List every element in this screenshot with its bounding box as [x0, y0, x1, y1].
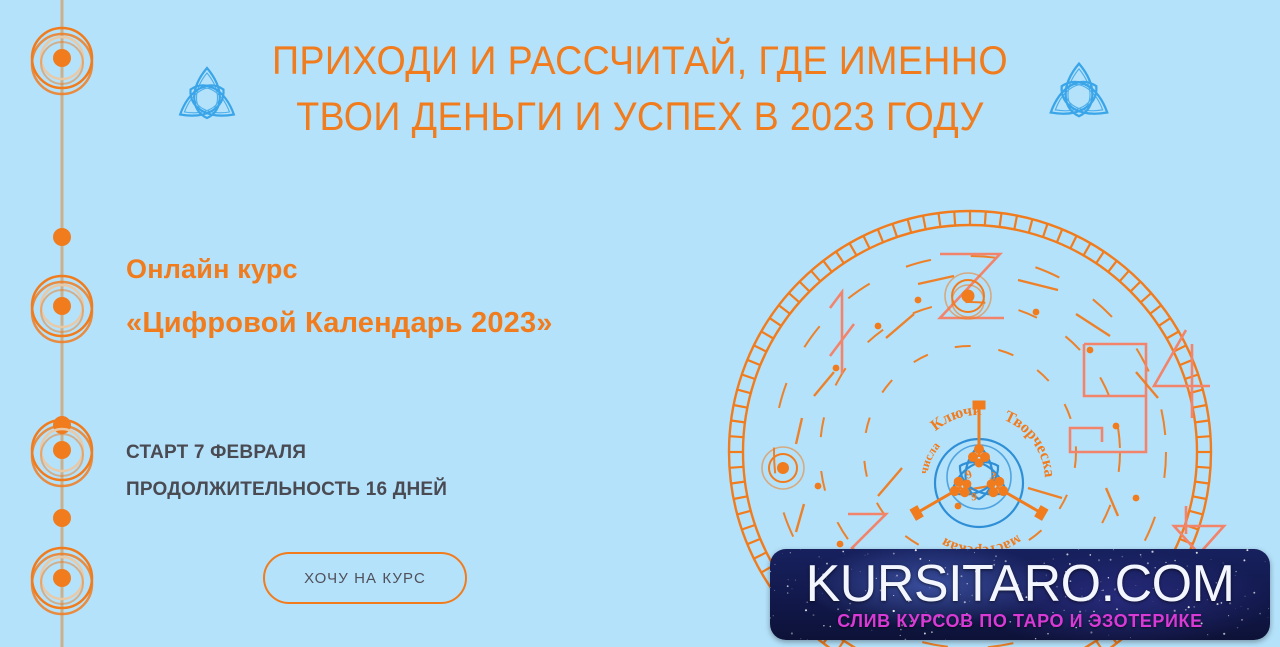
- mandala-glyph-9: [1070, 344, 1146, 452]
- left-decorative-rail: [0, 0, 125, 647]
- enroll-button[interactable]: ХОЧУ НА КУРС: [263, 552, 467, 604]
- rail-node-dot: [53, 228, 71, 246]
- course-duration: ПРОДОЛЖИТЕЛЬНОСТЬ 16 ДНЕЙ: [126, 471, 447, 508]
- course-start-date: СТАРТ 7 ФЕВРАЛЯ: [126, 434, 447, 471]
- logo-arc-inner: числа: [916, 439, 942, 475]
- svg-text:6: 6: [971, 490, 977, 504]
- rail-node-rings: [32, 548, 92, 614]
- rail-node-dot: [53, 509, 71, 527]
- course-name: «Цифровой Календарь 2023»: [126, 305, 553, 341]
- mandala-planet-top: [945, 273, 991, 319]
- page-title: ПРИХОДИ И РАССЧИТАЙ, ГДЕ ИМЕННО ТВОИ ДЕН…: [264, 33, 1016, 145]
- brand-logo: Ключи Творческая мастерская числа 3: [893, 395, 1065, 565]
- mandala-glyph-1: [830, 292, 854, 374]
- course-meta-block: СТАРТ 7 ФЕВРАЛЯ ПРОДОЛЖИТЕЛЬНОСТЬ 16 ДНЕ…: [126, 434, 447, 508]
- watermark-domain: KURSITARO.COM: [770, 555, 1270, 613]
- headline-line-2: ТВОИ ДЕНЬГИ И УСПЕХ В 2023 ГОДУ: [264, 89, 1016, 145]
- course-kicker: Онлайн курс: [126, 252, 553, 286]
- rail-graphic: [0, 0, 125, 647]
- watermark-banner: KURSITARO.COM СЛИВ КУРСОВ ПО ТАРО И ЭЗОТ…: [770, 549, 1270, 640]
- mandala-planet-left: [762, 447, 804, 489]
- headline-line-1: ПРИХОДИ И РАССЧИТАЙ, ГДЕ ИМЕННО: [264, 33, 1016, 89]
- course-title-block: Онлайн курс «Цифровой Календарь 2023»: [126, 252, 553, 341]
- poster-canvas: ПРИХОДИ И РАССЧИТАЙ, ГДЕ ИМЕННО ТВОИ ДЕН…: [0, 0, 1280, 647]
- rail-node-rings: [32, 276, 92, 342]
- watermark-tagline: СЛИВ КУРСОВ ПО ТАРО И ЭЗОТЕРИКЕ: [770, 611, 1270, 632]
- rail-node-rings: [32, 28, 92, 94]
- triquetra-icon: [1038, 53, 1120, 136]
- triquetra-icon: [168, 58, 246, 137]
- rail-node-rings: [32, 420, 92, 486]
